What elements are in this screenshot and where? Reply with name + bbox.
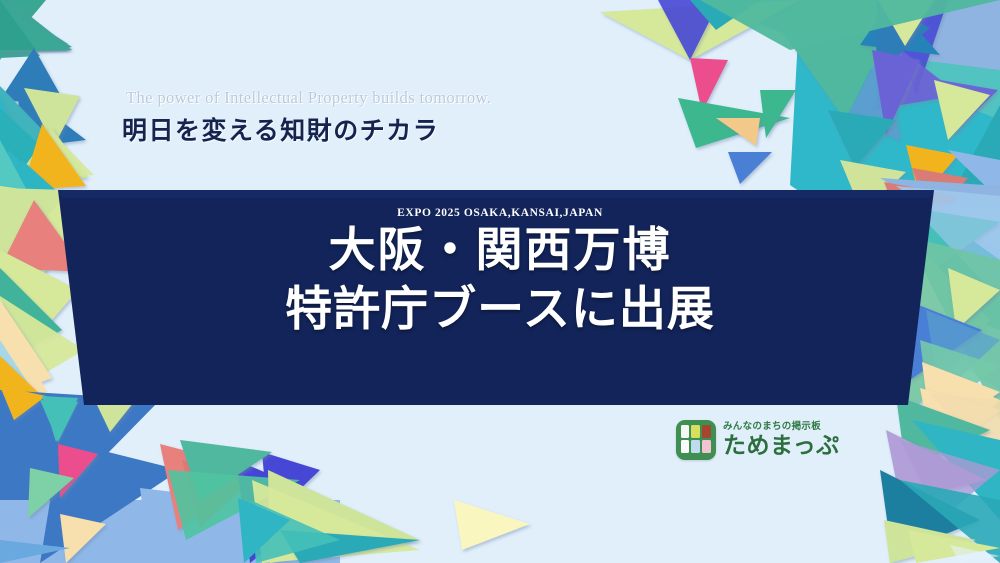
tamemap-app-icon bbox=[676, 420, 716, 460]
tagline-japanese: 明日を変える知財のチカラ bbox=[122, 111, 491, 147]
navy-banner: EXPO 2025 OSAKA,KANSAI,JAPAN 大阪・関西万博 特許庁… bbox=[0, 190, 1000, 405]
icon-tile-6 bbox=[702, 440, 711, 453]
poster-canvas: The power of Intellectual Property build… bbox=[0, 0, 1000, 563]
tagline-english: The power of Intellectual Property build… bbox=[126, 88, 491, 108]
icon-tile-4 bbox=[681, 440, 689, 453]
logo-subtitle: みんなのまちの掲示板 bbox=[723, 422, 840, 432]
tagline-block: The power of Intellectual Property build… bbox=[122, 88, 491, 147]
icon-tile-3 bbox=[702, 425, 711, 438]
logo-text-block: みんなのまちの掲示板 ためまっぷ bbox=[723, 422, 840, 458]
tamemap-logo-lockup: みんなのまちの掲示板 ためまっぷ bbox=[676, 420, 840, 460]
navy-banner-shape bbox=[0, 190, 1000, 405]
icon-tile-1 bbox=[681, 425, 689, 438]
app-icon-tile-grid bbox=[681, 425, 711, 455]
icon-tile-5 bbox=[691, 440, 700, 453]
logo-name: ためまっぷ bbox=[723, 435, 840, 458]
icon-tile-2 bbox=[691, 425, 700, 438]
